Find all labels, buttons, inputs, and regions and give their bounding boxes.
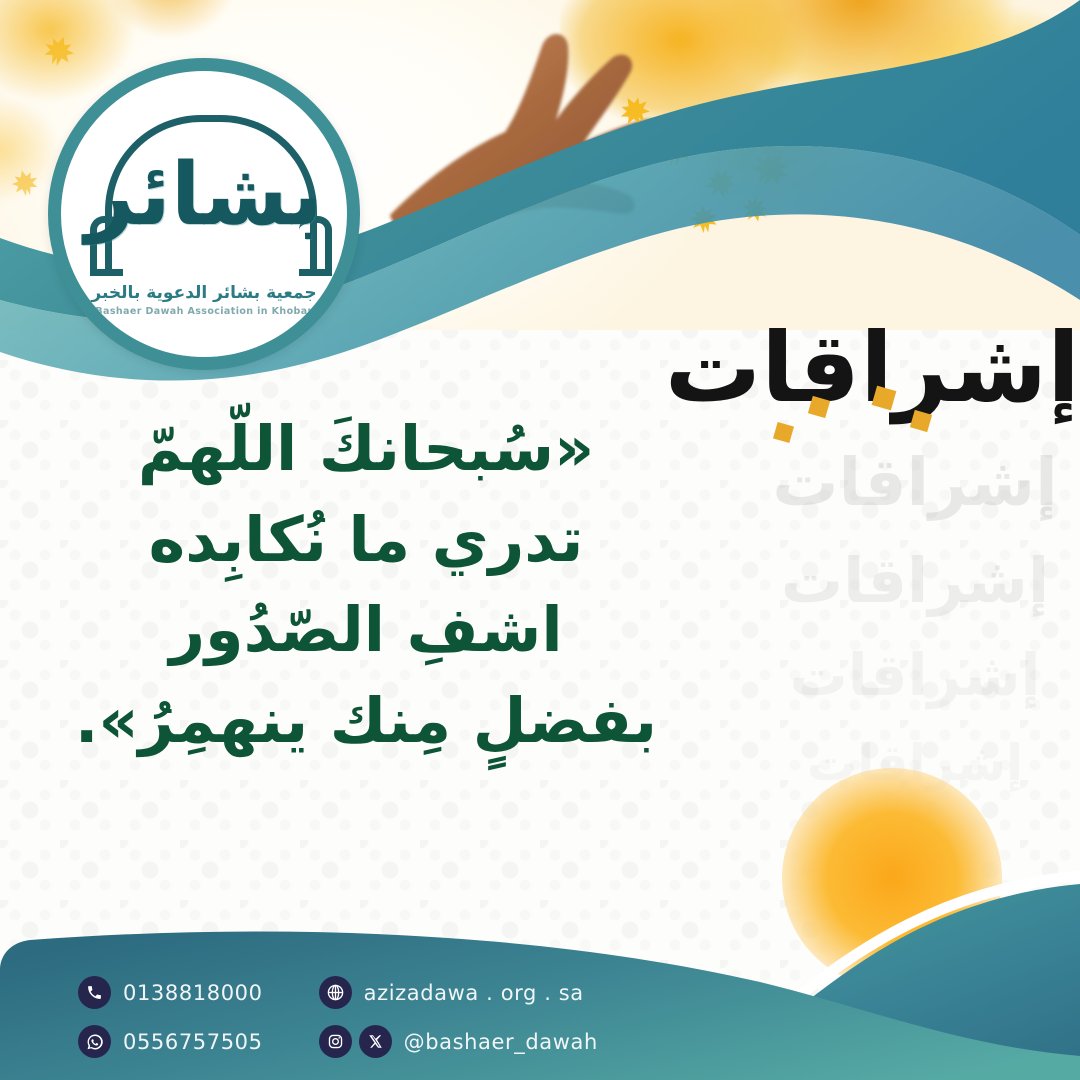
ishraqat-calligraphy-echo: إشراقات [772,450,1058,516]
contact-column-online: azizadawa . org . sa [319,976,598,1058]
social-handle: @bashaer_dawah [404,1030,598,1054]
ishraqat-calligraphy-echo: إشراقات [790,646,1041,704]
whatsapp-row[interactable]: 0556757505 [78,1025,263,1058]
quote-line: بفضلٍ مِنك ينهمِرُ». [52,676,680,767]
quote-block: «سُبحانكَ اللّهمّ تدري ما نُكابِده اشفِ … [52,404,680,766]
footer-contact-info: 0138818000 0556757505 [78,976,598,1058]
instagram-icon[interactable] [319,1025,352,1058]
quote-line: «سُبحانكَ اللّهمّ [52,404,680,495]
phone-number: 0138818000 [123,981,263,1005]
quote-line: اشفِ الصّدُور [52,585,680,676]
x-twitter-icon[interactable] [359,1025,392,1058]
contact-column-phones: 0138818000 0556757505 [78,976,263,1058]
social-icon-pair [319,1025,392,1058]
whatsapp-number: 0556757505 [123,1030,263,1054]
logo-subtitle-arabic: جمعية بشائر الدعوية بالخبر [91,283,316,303]
organization-logo-badge[interactable]: بشائر جمعية بشائر الدعوية بالخبر Bashaer… [48,58,360,370]
phone-icon [78,976,111,1009]
ishraqat-calligraphy-echo: إشراقات [781,550,1049,612]
website-row[interactable]: azizadawa . org . sa [319,976,598,1009]
poster-canvas: بشائر جمعية بشائر الدعوية بالخبر Bashaer… [0,0,1080,1080]
website-url: azizadawa . org . sa [364,981,584,1005]
logo-subtitle-english: Bashaer Dawah Association in Khobar [95,306,312,317]
globe-icon [319,976,352,1009]
footer-band: 0138818000 0556757505 [0,850,1080,1080]
logo-wordmark: بشائر [85,152,323,238]
whatsapp-icon [78,1025,111,1058]
logo-mark: بشائر [99,111,309,279]
phone-row[interactable]: 0138818000 [78,976,263,1009]
social-row[interactable]: @bashaer_dawah [319,1025,598,1058]
quote-line: تدري ما نُكابِده [52,495,680,586]
